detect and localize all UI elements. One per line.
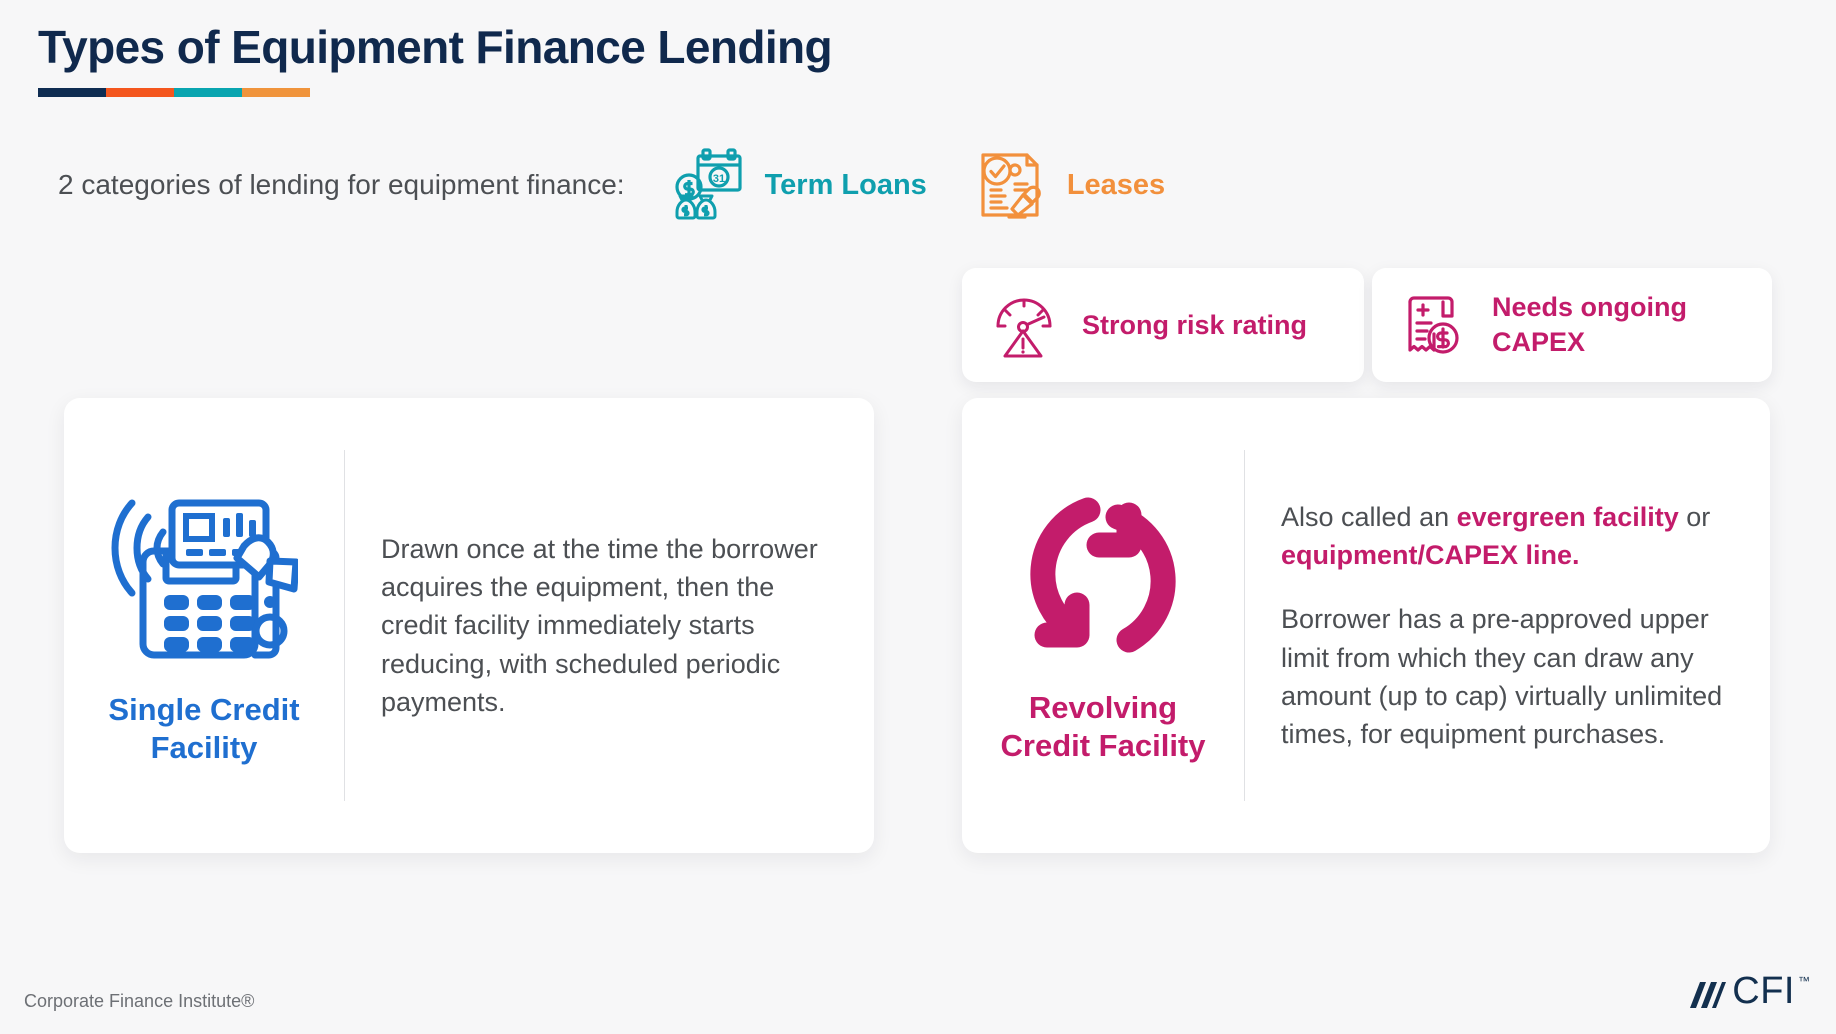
slide-canvas: Types of Equipment Finance Lending 2 cat… xyxy=(0,0,1836,1034)
cfi-logo-wordmark: CFI xyxy=(1732,972,1795,1010)
calendar-money-bags-icon: 31 xyxy=(665,143,743,227)
body-text: Borrower has a pre-approved upper limit … xyxy=(1281,604,1722,749)
badge-row: Strong risk rating Needs ongoing CAPEX xyxy=(962,268,1772,382)
rule-segment-2 xyxy=(106,88,174,97)
intro-text: 2 categories of lending for equipment fi… xyxy=(58,167,625,203)
card-single-credit-facility: Single Credit Facility Drawn once at the… xyxy=(64,398,874,853)
category-label-leases: Leases xyxy=(1067,169,1165,202)
badge-strong-risk-rating[interactable]: Strong risk rating xyxy=(962,268,1364,382)
card-right-paragraph-2: Borrower has a pre-approved upper limit … xyxy=(1281,600,1736,753)
title-block: Types of Equipment Finance Lending xyxy=(38,22,832,97)
rule-segment-1 xyxy=(38,88,106,97)
card-right-body: Also called an evergreen facility or equ… xyxy=(1245,498,1770,754)
emphasis-text: equipment/CAPEX line. xyxy=(1281,540,1580,570)
category-leases: Leases xyxy=(971,143,1165,227)
badge-needs-ongoing-capex[interactable]: Needs ongoing CAPEX xyxy=(1372,268,1772,382)
rule-segment-3 xyxy=(174,88,242,97)
title-underline-rule xyxy=(38,88,310,97)
page-title: Types of Equipment Finance Lending xyxy=(38,22,832,74)
cfi-logo-trademark: ™ xyxy=(1798,974,1810,988)
emphasis-text: evergreen facility xyxy=(1457,502,1679,532)
card-heading-single-credit-facility: Single Credit Facility xyxy=(90,691,318,767)
body-text: or xyxy=(1679,502,1711,532)
intro-row: 2 categories of lending for equipment fi… xyxy=(58,148,1165,222)
badge-label-strong-risk-rating: Strong risk rating xyxy=(1082,308,1307,343)
card-payment-terminal-icon xyxy=(110,485,298,665)
cfi-logo: CFI ™ xyxy=(1680,972,1810,1010)
cfi-logo-mark-icon xyxy=(1680,972,1726,1010)
risk-gauge-warning-icon xyxy=(992,290,1056,360)
card-left-paragraph-1: Drawn once at the time the borrower acqu… xyxy=(381,530,840,722)
category-label-term-loans: Term Loans xyxy=(765,169,927,202)
card-left-icon-wrap xyxy=(110,485,298,665)
category-term-loans: 31 Term Loans xyxy=(665,143,927,227)
circular-arrows-refresh-icon xyxy=(1015,487,1191,663)
body-text: Drawn once at the time the borrower acqu… xyxy=(381,534,818,717)
badge-label-needs-ongoing-capex: Needs ongoing CAPEX xyxy=(1492,290,1742,359)
card-revolving-credit-facility: Revolving Credit Facility Also called an… xyxy=(962,398,1770,853)
card-right-side: Revolving Credit Facility xyxy=(962,487,1244,765)
card-left-body: Drawn once at the time the borrower acqu… xyxy=(345,530,874,722)
card-heading-revolving-credit-facility: Revolving Credit Facility xyxy=(988,689,1218,765)
rule-segment-4 xyxy=(242,88,310,97)
card-right-icon-wrap xyxy=(1015,487,1191,663)
body-text: Also called an xyxy=(1281,502,1457,532)
card-left-side: Single Credit Facility xyxy=(64,485,344,767)
document-stamp-icon xyxy=(971,143,1049,227)
card-right-paragraph-1: Also called an evergreen facility or equ… xyxy=(1281,498,1736,575)
footer-copyright: Corporate Finance Institute® xyxy=(24,991,254,1012)
receipt-dollar-icon xyxy=(1402,290,1466,360)
svg-text:31: 31 xyxy=(712,173,724,185)
